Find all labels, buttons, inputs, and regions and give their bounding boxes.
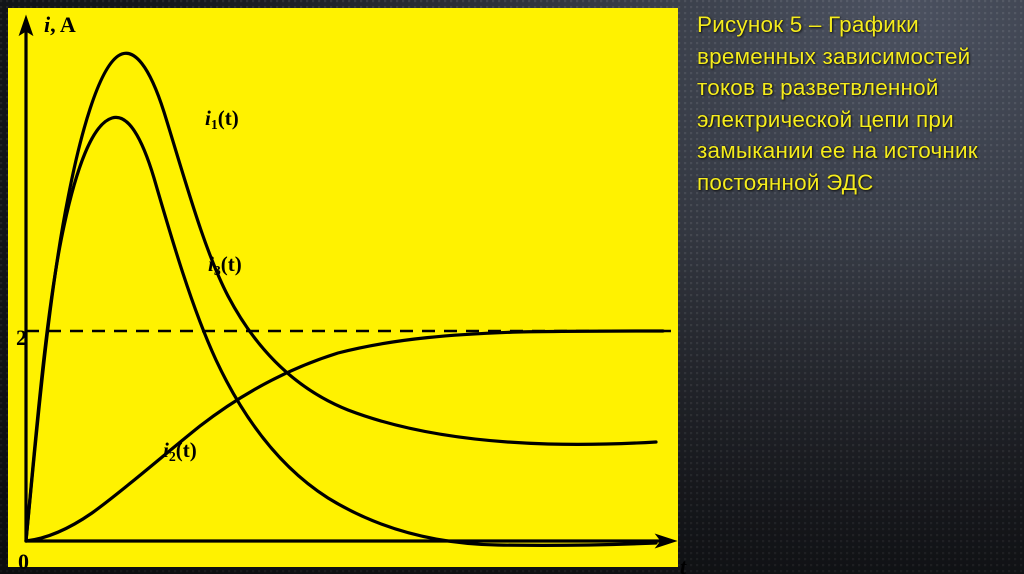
slide-canvas: i, A t 2 0 i1(t) i3(t) i2(t) Рисунок 5 –… <box>0 0 1024 574</box>
axes <box>20 16 677 548</box>
current-vs-time-plot <box>8 8 678 567</box>
curve-label-i3: i3(t) <box>208 254 242 278</box>
origin-label: 0 <box>18 551 29 573</box>
y-axis-label: i, A <box>44 14 76 36</box>
y-tick-label-2: 2 <box>16 327 27 349</box>
curve-label-i1: i1(t) <box>205 108 239 132</box>
figure-caption: Рисунок 5 – Графики временных зависимост… <box>697 9 1005 198</box>
figure-panel: i, A t 2 0 i1(t) i3(t) i2(t) <box>8 8 678 567</box>
curve-label-i2: i2(t) <box>163 440 197 464</box>
curve-i1 <box>26 53 656 541</box>
curve-i2 <box>26 331 663 541</box>
x-axis-label: t <box>680 556 686 574</box>
